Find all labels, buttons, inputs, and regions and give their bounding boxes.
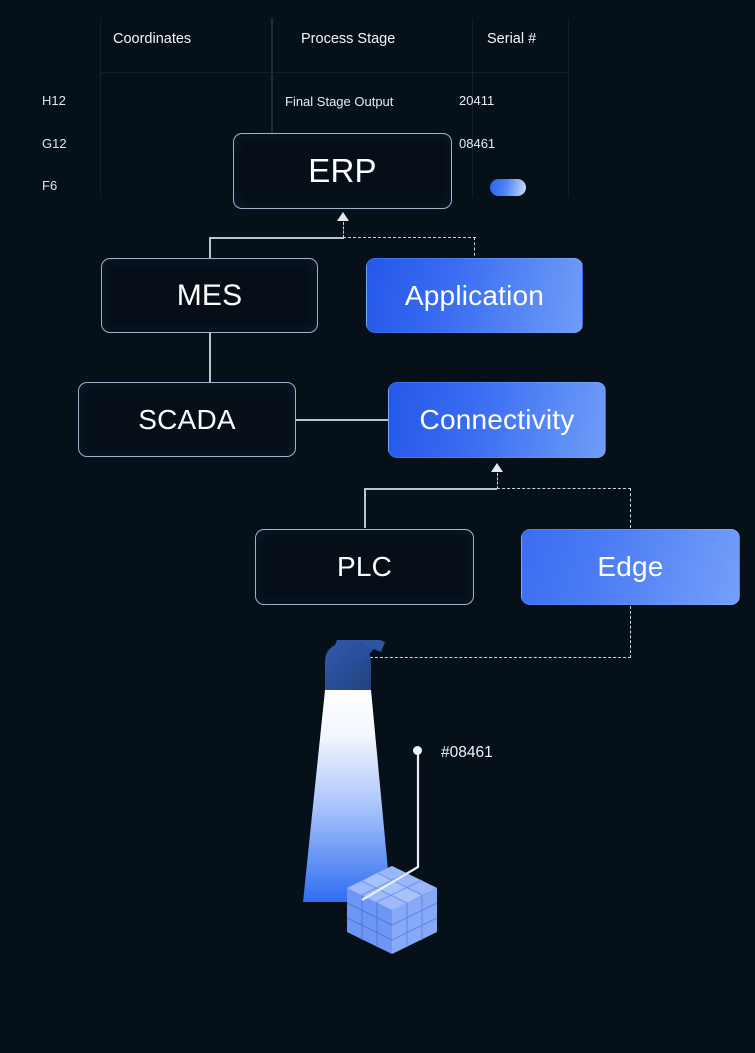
- node-application[interactable]: Application: [366, 258, 583, 333]
- table-header-coordinates: Coordinates: [113, 31, 191, 47]
- callout-label: #08461: [441, 744, 493, 762]
- node-erp-label: ERP: [308, 152, 376, 190]
- connector-scada-to-connectivity: [296, 419, 389, 421]
- connector-edge-to-connectivity-vertical: [630, 488, 631, 528]
- node-plc-label: PLC: [337, 551, 392, 583]
- connector-erp-inbound-stub: [343, 222, 344, 238]
- table-cell-process-stage-1: Final Stage Output: [285, 94, 393, 109]
- node-connectivity[interactable]: Connectivity: [388, 382, 606, 458]
- node-edge[interactable]: Edge: [521, 529, 740, 605]
- screen-root: Coordinates Process Stage Serial # H12 G…: [0, 0, 755, 1053]
- table-header-serial: Serial #: [487, 31, 536, 47]
- connector-edge-to-scanner-vertical: [630, 606, 631, 658]
- table-col-divider-3: [472, 18, 473, 198]
- arrow-into-connectivity: [491, 463, 503, 472]
- arrow-into-erp: [337, 212, 349, 221]
- node-application-label: Application: [405, 280, 544, 312]
- table-col-divider-1: [100, 18, 101, 198]
- connector-plc-to-connectivity-vertical: [364, 488, 366, 528]
- node-connectivity-label: Connectivity: [420, 404, 575, 436]
- connector-mes-to-scada: [209, 330, 211, 382]
- table-col-divider-4: [568, 18, 569, 198]
- node-erp[interactable]: ERP: [233, 133, 452, 209]
- callout-leader: [350, 745, 470, 905]
- table-cell-serial-2: 08461: [459, 136, 495, 151]
- table-row-label-f6: F6: [42, 178, 57, 193]
- connector-plc-to-connectivity-horizontal: [364, 488, 497, 490]
- table-header-rule: [100, 72, 568, 73]
- node-mes-label: MES: [177, 279, 243, 313]
- node-mes[interactable]: MES: [101, 258, 318, 333]
- connector-application-to-erp-horizontal: [343, 237, 476, 238]
- node-scada[interactable]: SCADA: [78, 382, 296, 457]
- connector-connectivity-inbound-stub: [497, 473, 498, 489]
- table-header-process-stage: Process Stage: [301, 31, 395, 47]
- table-cell-serial-1: 20411: [459, 93, 494, 108]
- table-row-label-g12: G12: [42, 136, 67, 151]
- connector-edge-to-connectivity-horizontal: [497, 488, 631, 489]
- table-row-label-h12: H12: [42, 93, 66, 108]
- callout-dot: [413, 746, 422, 755]
- node-edge-label: Edge: [597, 551, 663, 583]
- node-plc[interactable]: PLC: [255, 529, 474, 605]
- serial-toggle[interactable]: [490, 179, 526, 196]
- table-col-divider-2: [271, 18, 273, 135]
- node-scada-label: SCADA: [138, 404, 235, 436]
- connector-mes-to-erp-horizontal: [209, 237, 344, 239]
